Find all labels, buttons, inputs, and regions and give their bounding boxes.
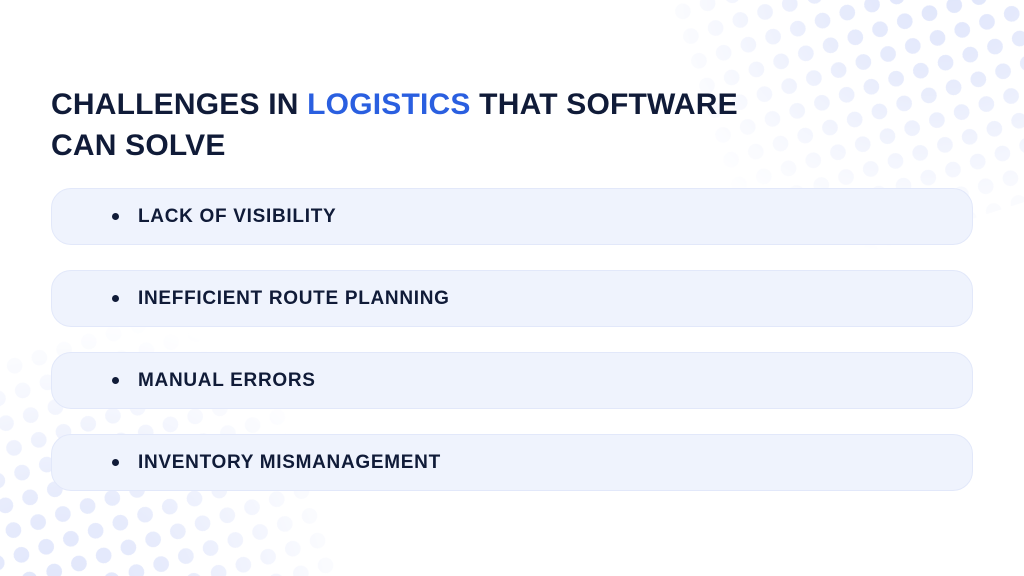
page-title-accent: Logistics: [307, 88, 470, 121]
list-item[interactable]: Inventory Mismanagement: [51, 434, 973, 491]
page-title-part-before: Challenges in: [51, 88, 307, 121]
list-item-label: Inventory Mismanagement: [138, 452, 441, 474]
list-item[interactable]: Lack of Visibility: [51, 188, 973, 245]
bullet-dot-icon: [112, 295, 119, 302]
list-item[interactable]: Manual Errors: [51, 352, 973, 409]
bullet-dot-icon: [112, 213, 119, 220]
slide-canvas: Challenges in Logistics that Software ca…: [0, 0, 1024, 576]
list-item[interactable]: Inefficient Route Planning: [51, 270, 973, 327]
challenge-list: Lack of Visibility Inefficient Route Pla…: [51, 188, 973, 491]
list-item-label: Manual Errors: [138, 370, 316, 392]
page-title: Challenges in Logistics that Software ca…: [51, 84, 751, 166]
list-item-label: Inefficient Route Planning: [138, 288, 450, 310]
bullet-dot-icon: [112, 377, 119, 384]
bullet-dot-icon: [112, 459, 119, 466]
list-item-label: Lack of Visibility: [138, 206, 336, 228]
